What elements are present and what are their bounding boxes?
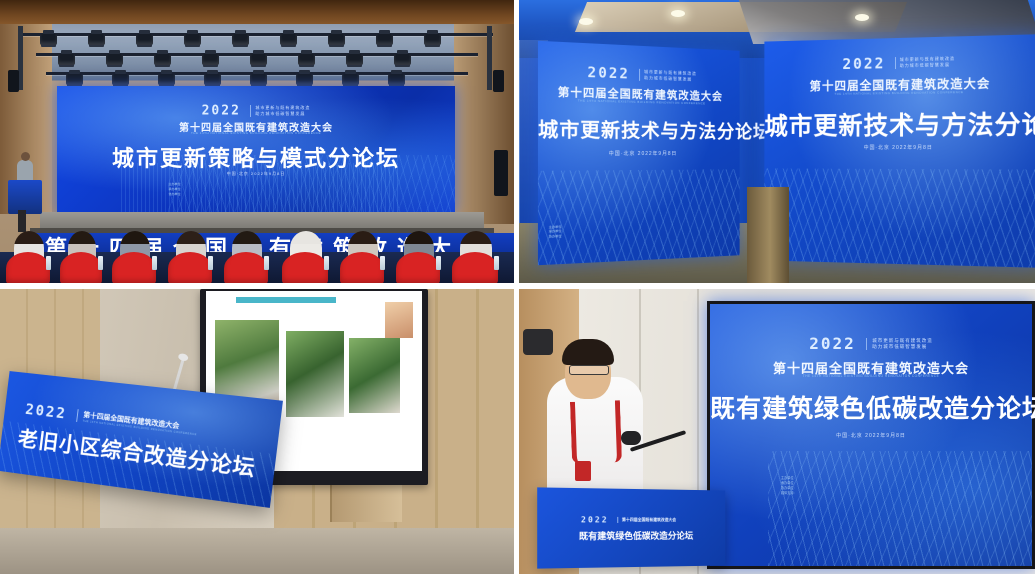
organizer-line: 承办单位: [168,187,181,192]
audience-chair [112,252,156,283]
audience-chair [396,252,440,283]
stage-light [58,54,75,65]
date-line: 中国·北京 2022年9月8日 [57,171,455,177]
stage-light [112,74,129,85]
year-logo: 2022 [842,54,885,73]
lanyard [570,400,622,464]
stage-light [158,74,175,85]
logo-subtitle-line-1: 城市更新与既有建筑改造 [872,338,933,344]
audience-chair [224,252,268,283]
truss-post [487,26,492,90]
audience-chair [340,252,384,283]
stage-light [342,74,359,85]
presentation-display[interactable]: 2022 城市更新与既有建筑改造 助力城市低碳智慧发展 第十四届全国既有建筑改造… [707,301,1035,569]
year-logo: 2022 [202,103,241,118]
stage-light [280,34,297,45]
ceiling-trim [0,0,514,26]
stage-light [250,54,267,65]
stage-light [40,34,57,45]
slide-accent-bar [236,297,335,303]
slide-photo [286,331,344,417]
slide-photo [349,338,401,414]
date-line: 中国·北京 2022年9月8日 [710,432,1032,439]
forum-banner-left[interactable]: 2022 城市更新与既有建筑改造 助力城市低碳智慧发展 第十四届全国既有建筑改造… [538,41,740,265]
loudspeaker [494,150,508,196]
logo-subtitle-line-1: 城市更新与既有建筑改造 [255,105,310,111]
organizer-block: 主办单位: 承办单位: 协办单位: [549,224,563,239]
audience-chair [60,252,102,283]
organizer-line: 协办单位: [549,234,563,240]
date-line: 中国·北京 2022年9月8日 [538,150,740,157]
water-bottle [436,256,441,270]
date-line: 中国·北京 2022年9月8日 [764,144,1035,151]
audience-chair [452,252,498,283]
speaker-hair [562,339,614,365]
conference-title-en: THE 14TH NATIONAL EXISTING BUILDING RENO… [57,131,455,135]
stage-light [204,74,221,85]
panel-top-right[interactable]: 2022 城市更新与既有建筑改造 助力城市低碳智慧发展 第十四届全国既有建筑改造… [519,0,1035,283]
logo-subtitle-line-2: 助力城市低碳智慧发展 [255,111,310,117]
camera-mount [523,329,553,355]
year-logo: 2022 [24,400,67,422]
panel-top-left[interactable]: 2022 城市更新与既有建筑改造 助力城市低碳智慧发展 第十四届全国既有建筑改造… [0,0,514,283]
slide-inset-photo [385,302,413,338]
stage-light [250,74,267,85]
floor [0,528,514,574]
organizer-block: 主办单位: 承办单位: 协办单位: 媒体支持: [781,476,795,497]
downlight [671,10,685,17]
mesh-graphic [538,169,740,265]
water-bottle [264,256,269,270]
year-logo: 2022 [588,65,630,83]
stage-led-wall[interactable]: 2022 城市更新与既有建筑改造 助力城市低碳智慧发展 第十四届全国既有建筑改造… [57,86,455,214]
stage-light [376,34,393,45]
name-badge [575,461,591,481]
year-logo: 2022 [581,515,609,524]
pillar [747,187,789,283]
stage-light [296,74,313,85]
stage-light [202,54,219,65]
audience-chair [168,252,212,283]
stage-light [184,34,201,45]
water-bottle [152,256,157,270]
forum-title: 既有建筑绿色低碳改造分论坛 [579,529,693,542]
water-bottle [98,256,103,270]
forum-title: 城市更新技术与方法分论坛 [538,114,740,143]
forum-title: 城市更新技术与方法分论坛 [764,104,1035,142]
audience-chair [282,252,328,283]
stage-light [232,34,249,45]
stage-light [388,74,405,85]
logo-subtitle-line-2: 助力城市低碳智慧发展 [644,75,697,83]
conference-title: 第十四届全国既有建筑改造大会 [617,517,676,523]
podium-sign[interactable]: 2022 第十四届全国既有建筑改造大会 既有建筑绿色低碳改造分论坛 [537,487,725,568]
podium [8,180,42,214]
loudspeaker [493,70,504,92]
stage-light [394,54,411,65]
conference-title-en: THE 14TH NATIONAL EXISTING BUILDING RENO… [710,374,1032,378]
stage-light [298,54,315,65]
organizer-line: 协办单位: [168,192,181,197]
stage-light [328,34,345,45]
loudspeaker [8,70,19,92]
forum-title: 城市更新策略与模式分论坛 [57,141,455,173]
water-bottle [46,256,51,270]
water-bottle [324,256,329,270]
stage-light [154,54,171,65]
stage-light [346,54,363,65]
forum-title: 既有建筑绿色低碳改造分论坛 [710,389,1032,425]
stage-light [88,34,105,45]
stage-light [424,34,441,45]
forum-banner-right[interactable]: 2022 城市更新与既有建筑改造 助力城市低碳智慧发展 第十四届全国既有建筑改造… [764,34,1035,268]
downlight [855,14,869,21]
photo-collage-grid: 2022 城市更新与既有建筑改造 助力城市低碳智慧发展 第十四届全国既有建筑改造… [0,0,1035,574]
stage-light [106,54,123,65]
mesh-graphic [764,169,1035,268]
stage-light [136,34,153,45]
water-bottle [208,256,213,270]
stage-light [66,74,83,85]
mesh-graphic [768,451,1032,566]
glasses-icon [569,365,609,375]
panel-bottom-right[interactable]: 2022 城市更新与既有建筑改造 助力城市低碳智慧发展 第十四届全国既有建筑改造… [519,289,1035,574]
organizer-block: 主办单位: 承办单位: 协办单位: [168,182,181,196]
year-logo: 2022 [809,334,856,353]
microphone-head [621,431,641,445]
audience-chair [6,252,50,283]
water-bottle [494,256,499,270]
downlight [579,18,593,25]
panel-bottom-left[interactable]: 2022 第十四届全国既有建筑改造大会 THE 14TH NATIONAL EX… [0,289,514,574]
logo-subtitle-line-2: 助力城市低碳智慧发展 [900,62,955,69]
water-bottle [380,256,385,270]
organizer-line: 媒体支持: [781,491,795,496]
logo-subtitle-line-2: 助力城市低碳智慧发展 [872,344,933,350]
